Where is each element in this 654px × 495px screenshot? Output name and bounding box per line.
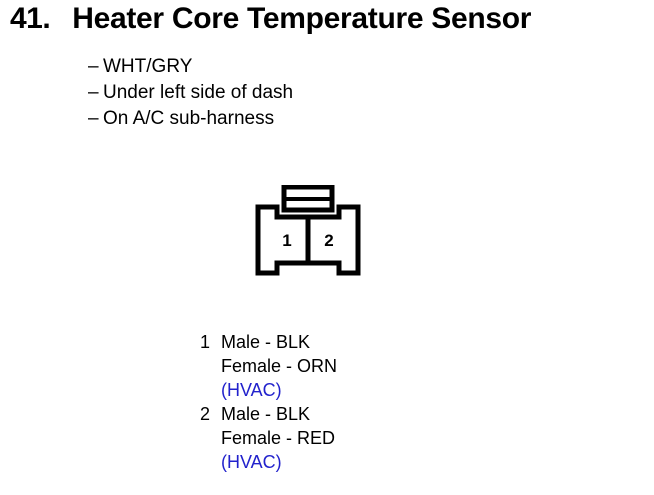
pin-male-color: Male - BLK	[221, 402, 335, 426]
connector-latch-tab	[284, 187, 332, 210]
pin-harness-label: (HVAC)	[221, 450, 335, 474]
connector-diagram: 1 2	[255, 185, 365, 280]
note-item-label: On A/C sub-harness	[103, 106, 274, 132]
pin-female-color: Female - RED	[221, 426, 335, 450]
note-list: – WHT/GRY – Under left side of dash – On…	[88, 54, 293, 132]
section-title: Heater Core Temperature Sensor	[72, 2, 531, 36]
pin-legend-entry: 2 Male - BLK Female - RED (HVAC)	[200, 402, 337, 474]
pin-details: Male - BLK Female - ORN (HVAC)	[221, 330, 337, 402]
note-item: – Under left side of dash	[88, 80, 293, 106]
pin-number: 2	[200, 402, 221, 426]
note-item: – WHT/GRY	[88, 54, 293, 80]
pin-female-color: Female - ORN	[221, 354, 337, 378]
dash-icon: –	[88, 106, 103, 132]
pin-details: Male - BLK Female - RED (HVAC)	[221, 402, 335, 474]
section-number: 41.	[10, 2, 50, 36]
page-title: 41. Heater Core Temperature Sensor	[10, 2, 650, 36]
dash-icon: –	[88, 80, 103, 106]
note-item: – On A/C sub-harness	[88, 106, 293, 132]
dash-icon: –	[88, 54, 103, 80]
pin-male-color: Male - BLK	[221, 330, 337, 354]
note-item-label: Under left side of dash	[103, 80, 293, 106]
pin-legend: 1 Male - BLK Female - ORN (HVAC) 2 Male …	[200, 330, 337, 474]
pin-legend-entry: 1 Male - BLK Female - ORN (HVAC)	[200, 330, 337, 402]
connector-pin-2-label: 2	[324, 231, 333, 250]
pin-number: 1	[200, 330, 221, 354]
note-item-label: WHT/GRY	[103, 54, 192, 80]
pin-harness-label: (HVAC)	[221, 378, 337, 402]
connector-pin-1-label: 1	[282, 231, 291, 250]
